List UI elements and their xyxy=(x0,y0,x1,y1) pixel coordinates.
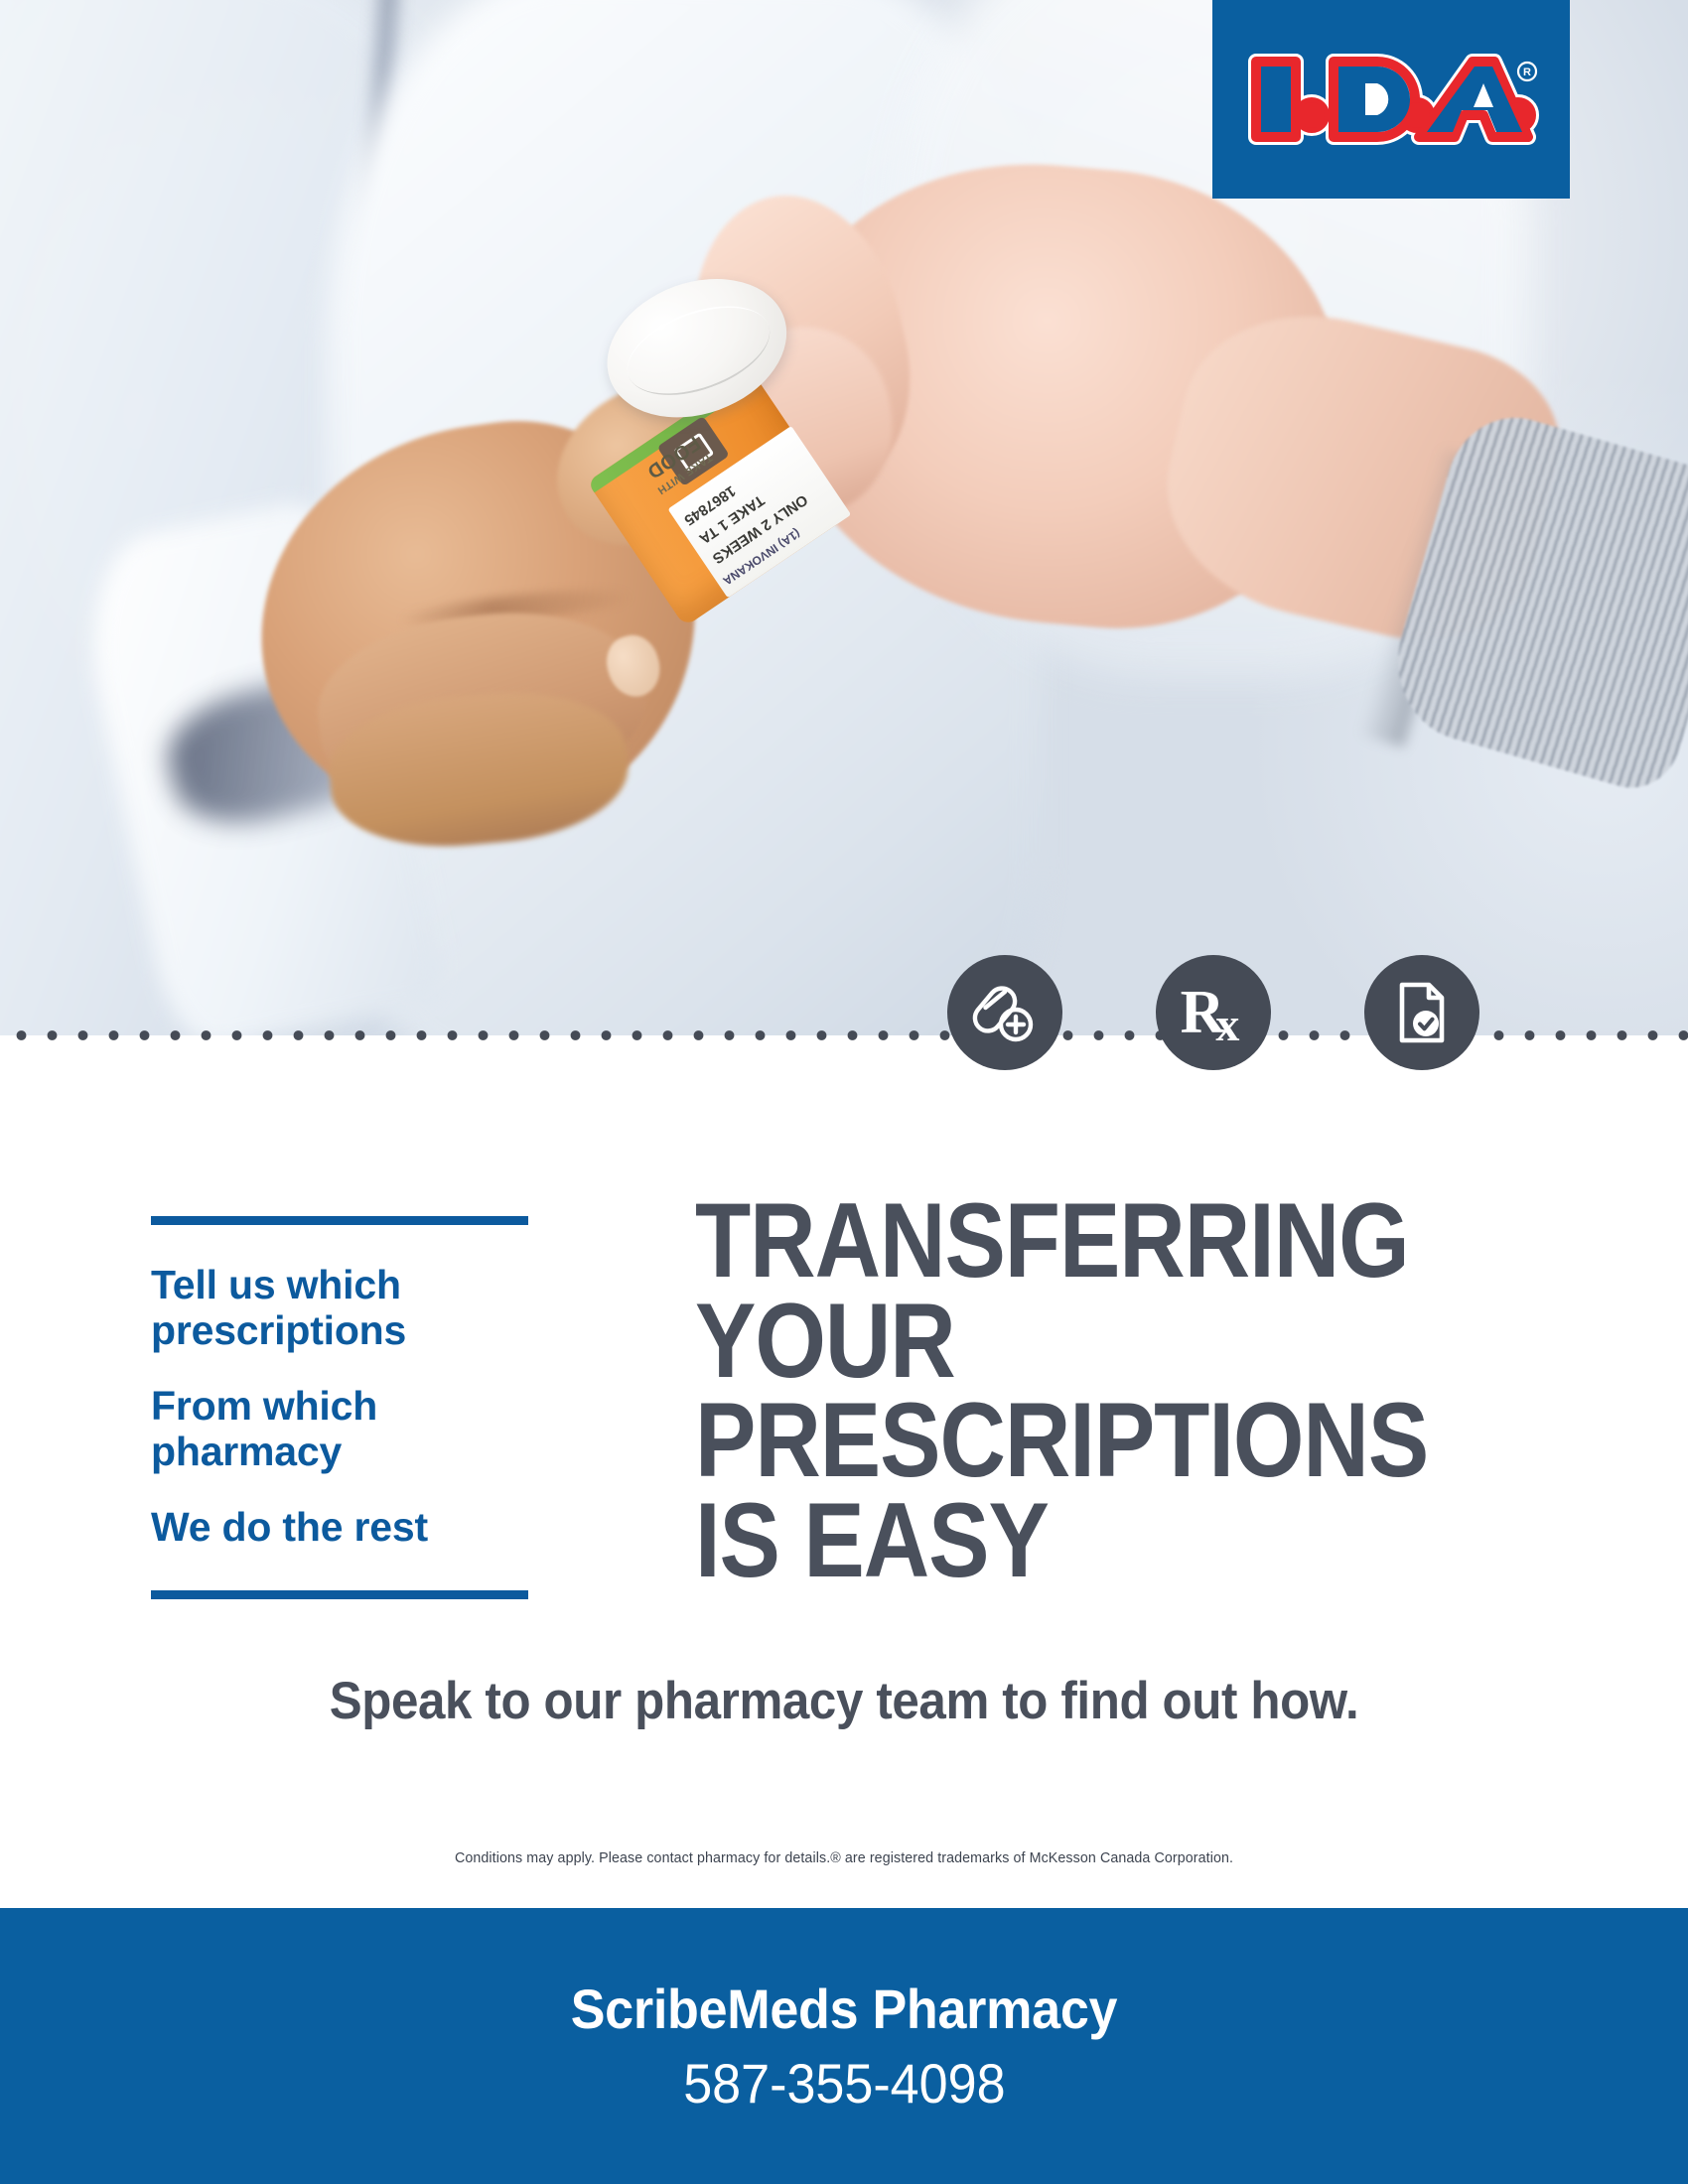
content-area: Tell us which prescriptions From which p… xyxy=(0,1035,1688,1908)
rx-symbol-icon: Rx xyxy=(1181,982,1247,1043)
footer-bar: ScribeMeds Pharmacy 587-355-4098 xyxy=(0,1908,1688,2184)
steps-rule-bottom xyxy=(151,1590,528,1599)
tagline: Speak to our pharmacy team to find out h… xyxy=(60,1671,1629,1731)
document-check-icon xyxy=(1392,980,1452,1045)
headline-line-4: IS EASY xyxy=(695,1490,1438,1590)
badge-pills[interactable] xyxy=(947,955,1062,1070)
pharmacy-name: ScribeMeds Pharmacy xyxy=(571,1977,1118,2041)
step-item-1: Tell us which prescriptions xyxy=(151,1263,528,1354)
step-item-3: We do the rest xyxy=(151,1505,528,1551)
page-title: TRANSFERRING YOUR PRESCRIPTIONS IS EASY xyxy=(695,1190,1438,1589)
ida-logo: R xyxy=(1212,0,1570,199)
headline-line-3: PRESCRIPTIONS xyxy=(695,1390,1438,1490)
headline-line-2: YOUR xyxy=(695,1291,1438,1391)
steps-rule-top xyxy=(151,1216,528,1225)
badge-rx[interactable]: Rx xyxy=(1156,955,1271,1070)
badge-document[interactable] xyxy=(1364,955,1479,1070)
headline-line-1: TRANSFERRING xyxy=(695,1190,1438,1291)
pills-plus-icon xyxy=(972,980,1038,1045)
svg-text:R: R xyxy=(1523,67,1531,78)
pharmacy-phone: 587-355-4098 xyxy=(683,2051,1005,2116)
disclaimer-text: Conditions may apply. Please contact pha… xyxy=(43,1849,1646,1866)
ida-logo-icon: R xyxy=(1242,46,1540,153)
steps-list: Tell us which prescriptions From which p… xyxy=(151,1216,528,1599)
step-item-2: From which pharmacy xyxy=(151,1384,528,1475)
